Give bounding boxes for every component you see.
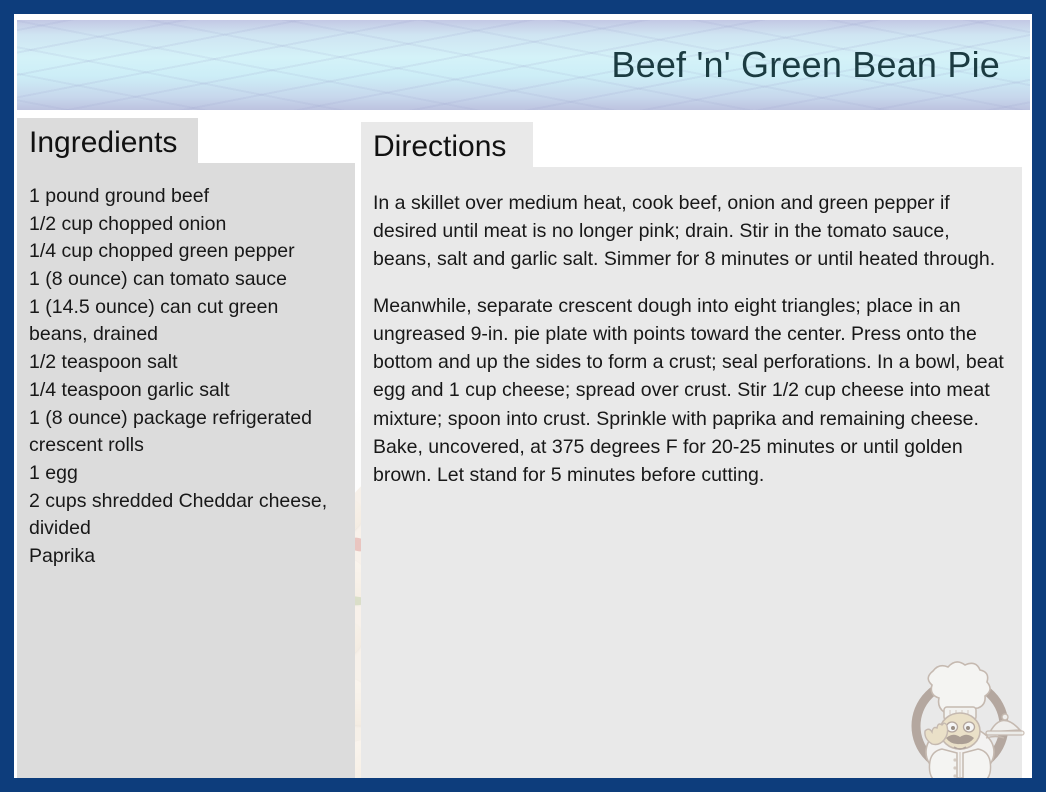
ingredient-item: 1 (8 ounce) package refrigerated crescen… (29, 405, 341, 460)
ingredient-item: 1/2 cup chopped onion (29, 211, 341, 239)
direction-paragraph: In a skillet over medium heat, cook beef… (373, 189, 1006, 273)
ingredients-heading: Ingredients (29, 126, 177, 159)
ingredient-item: Paprika (29, 543, 341, 571)
ingredients-list: 1 pound ground beef1/2 cup chopped onion… (17, 163, 355, 571)
ingredient-item: 1 (8 ounce) can tomato sauce (29, 266, 341, 294)
recipe-card: Beef 'n' Green Bean Pie (0, 0, 1046, 792)
card-inner-frame: Beef 'n' Green Bean Pie (14, 14, 1032, 778)
ingredients-panel: Ingredients 1 pound ground beef1/2 cup c… (17, 118, 355, 778)
ingredient-item: 1/4 teaspoon garlic salt (29, 377, 341, 405)
content-columns: Ingredients 1 pound ground beef1/2 cup c… (14, 118, 1032, 778)
directions-panel: Directions In a skillet over medium heat… (361, 122, 1022, 778)
ingredient-item: 2 cups shredded Cheddar cheese, divided (29, 488, 341, 543)
ingredient-item: 1 pound ground beef (29, 183, 341, 211)
directions-body: In a skillet over medium heat, cook beef… (361, 167, 1022, 489)
directions-heading-row: Directions (361, 122, 1022, 167)
ingredient-item: 1 egg (29, 460, 341, 488)
heading-notch (533, 122, 1022, 167)
direction-paragraph: Meanwhile, separate crescent dough into … (373, 292, 1006, 489)
ingredient-item: 1 (14.5 ounce) can cut green beans, drai… (29, 294, 341, 349)
heading-notch (198, 118, 355, 163)
directions-heading: Directions (373, 130, 506, 163)
right-margin-strip (1022, 222, 1032, 778)
ingredient-item: 1/4 cup chopped green pepper (29, 238, 341, 266)
title-banner: Beef 'n' Green Bean Pie (17, 20, 1030, 110)
ingredients-heading-row: Ingredients (17, 118, 355, 163)
page-title: Beef 'n' Green Bean Pie (611, 44, 1000, 86)
ingredient-item: 1/2 teaspoon salt (29, 349, 341, 377)
